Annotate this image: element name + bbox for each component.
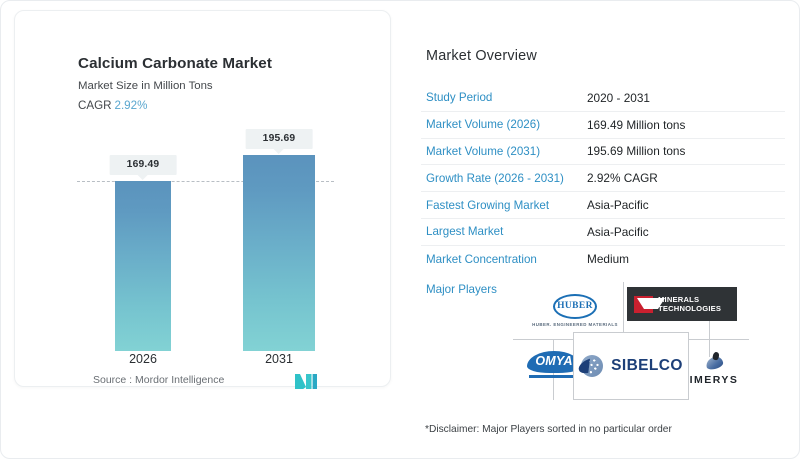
market-overview-table: Study Period 2020 - 2031 Market Volume (… — [421, 85, 785, 273]
row-value: 2.92% CAGR — [587, 171, 658, 185]
row-value: Medium — [587, 252, 629, 266]
bar-chart-plot-area: 169.49 195.69 — [15, 121, 392, 351]
minerals-technologies-badge: MINERALS TECHNOLOGIES — [627, 287, 737, 321]
table-row: Fastest Growing Market Asia-Pacific — [421, 192, 785, 219]
cagr-row: CAGR2.92% — [78, 99, 147, 112]
table-row: Market Volume (2026) 169.49 Million tons — [421, 112, 785, 139]
player-logo-huber: HUBER HUBER. ENGINEERED MATERIALS — [527, 284, 623, 336]
row-key: Market Volume (2031) — [421, 145, 587, 158]
bar-2026[interactable] — [115, 181, 171, 351]
row-value: 195.69 Million tons — [587, 144, 685, 158]
row-key: Largest Market — [421, 225, 587, 238]
mt-line-1: MINERALS — [658, 295, 721, 304]
source-label: Source : Mordor Intelligence — [93, 374, 224, 386]
major-players-logo-grid: HUBER HUBER. ENGINEERED MATERIALS MINERA… — [513, 282, 749, 400]
row-key: Fastest Growing Market — [421, 199, 587, 212]
player-logo-sibelco: SIBELCO — [573, 332, 689, 400]
x-axis-tick-2031: 2031 — [243, 352, 315, 366]
cagr-value: 2.92% — [115, 99, 148, 112]
market-overview-title: Market Overview — [426, 48, 537, 64]
market-summary-infographic: Calcium Carbonate Market Market Size in … — [0, 0, 800, 459]
row-value: 169.49 Million tons — [587, 118, 685, 132]
table-row: Market Volume (2031) 195.69 Million tons — [421, 139, 785, 166]
row-value: Asia-Pacific — [587, 198, 649, 212]
huber-oval-icon: HUBER — [553, 294, 597, 319]
table-row: Growth Rate (2026 - 2031) 2.92% CAGR — [421, 165, 785, 192]
table-row: Largest Market Asia-Pacific — [421, 219, 785, 246]
imerys-dot-shape — [712, 351, 719, 360]
sibelco-wordmark: SIBELCO — [611, 357, 683, 375]
huber-wordmark: HUBER — [557, 301, 593, 311]
row-value: Asia-Pacific — [587, 225, 649, 239]
bar-value-label-2031: 195.69 — [246, 129, 313, 149]
disclaimer-text: *Disclaimer: Major Players sorted in no … — [425, 424, 672, 435]
row-key: Market Concentration — [421, 253, 587, 266]
player-logo-imerys: IMERYS — [679, 344, 749, 394]
x-axis-tick-2026: 2026 — [115, 352, 171, 366]
grid-divider-vertical — [623, 282, 624, 339]
huber-tagline: HUBER. ENGINEERED MATERIALS — [532, 322, 618, 327]
row-value: 2020 - 2031 — [587, 91, 650, 105]
player-logo-minerals-technologies: MINERALS TECHNOLOGIES — [627, 287, 737, 321]
minerals-technologies-triangle-icon — [634, 296, 653, 313]
cagr-label: CAGR — [78, 99, 112, 112]
chart-card: Calcium Carbonate Market Market Size in … — [14, 10, 391, 387]
major-players-label: Major Players — [426, 283, 497, 296]
row-key: Study Period — [421, 91, 587, 104]
chart-title: Calcium Carbonate Market — [78, 55, 272, 72]
chart-subtitle: Market Size in Million Tons — [78, 80, 213, 92]
minerals-technologies-wordmark: MINERALS TECHNOLOGIES — [658, 295, 721, 314]
sibelco-globe-icon — [579, 353, 605, 379]
row-key: Market Volume (2026) — [421, 118, 587, 131]
bar-group-2031: 195.69 — [243, 131, 315, 351]
imerys-wordmark: IMERYS — [690, 374, 739, 386]
bar-2031[interactable] — [243, 155, 315, 351]
mt-line-2: TECHNOLOGIES — [658, 304, 721, 313]
table-row: Study Period 2020 - 2031 — [421, 85, 785, 112]
table-row: Market Concentration Medium — [421, 246, 785, 273]
bar-value-label-2026: 169.49 — [110, 155, 177, 175]
bar-group-2026: 169.49 — [115, 131, 171, 351]
row-key: Growth Rate (2026 - 2031) — [421, 172, 587, 185]
omya-underline-shape — [529, 375, 579, 378]
mordor-intelligence-logo — [295, 373, 317, 389]
imerys-mark-icon — [703, 352, 725, 372]
